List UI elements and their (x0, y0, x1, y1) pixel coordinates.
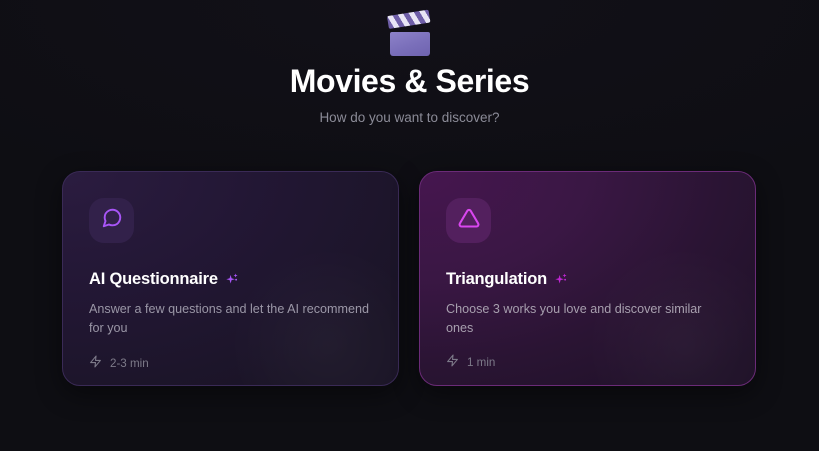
card-ai-questionnaire[interactable]: AI Questionnaire Answer a few questions … (62, 171, 399, 386)
page-header: Movies & Series How do you want to disco… (0, 0, 819, 128)
card-duration-label: 1 min (467, 356, 495, 369)
card-title: AI Questionnaire (89, 270, 218, 289)
card-title: Triangulation (446, 270, 547, 289)
card-description: Answer a few questions and let the AI re… (89, 300, 372, 338)
triangle-icon (457, 206, 481, 235)
card-icon-tile (446, 198, 491, 243)
card-triangulation[interactable]: Triangulation Choose 3 works you love an… (419, 171, 756, 386)
discover-screen: Movies & Series How do you want to disco… (0, 0, 819, 451)
discovery-options-list: AI Questionnaire Answer a few questions … (62, 171, 757, 386)
card-icon-tile (89, 198, 134, 243)
card-description: Choose 3 works you love and discover sim… (446, 300, 729, 338)
page-title: Movies & Series (0, 62, 819, 100)
sparkles-icon (554, 272, 568, 288)
card-duration-label: 2-3 min (110, 357, 149, 370)
message-square-icon (101, 207, 123, 234)
sparkles-icon (225, 272, 239, 288)
zap-icon (89, 355, 102, 371)
zap-icon (446, 354, 459, 370)
clapper-body (390, 32, 430, 56)
card-meta: 2-3 min (89, 355, 372, 371)
clapper-top-bar (386, 10, 430, 29)
card-title-row: Triangulation (446, 270, 729, 289)
card-title-row: AI Questionnaire (89, 270, 372, 289)
page-subtitle: How do you want to discover? (0, 108, 819, 128)
clapper-board-emoji (388, 16, 432, 56)
card-meta: 1 min (446, 354, 729, 370)
